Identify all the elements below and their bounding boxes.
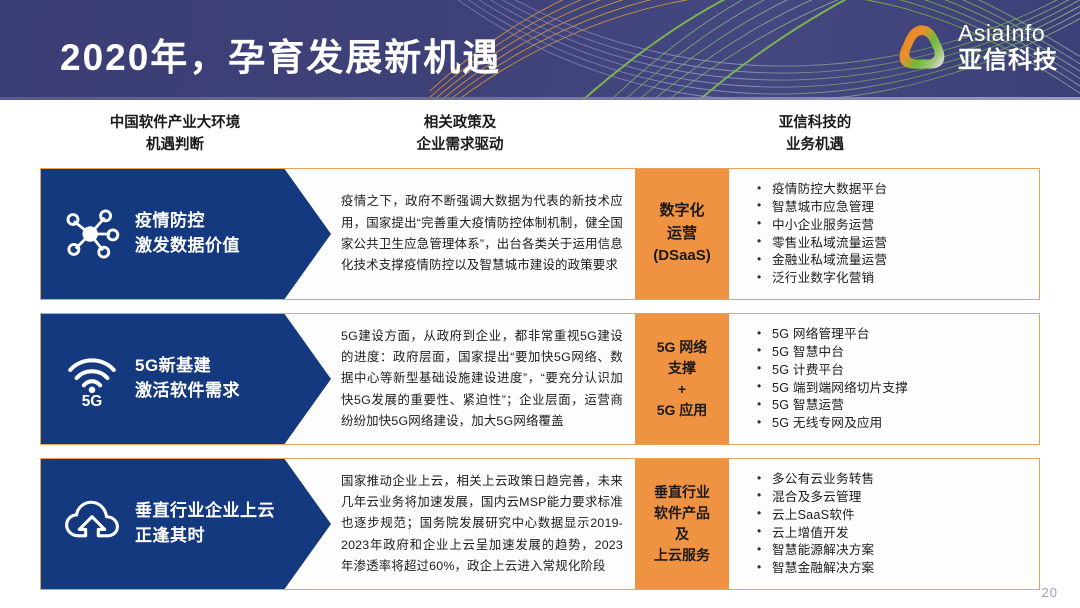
row-1-tag-line-2: 运营 [667, 223, 697, 246]
row-3-arrow-panel: 垂直行业企业上云 正逢其时 [41, 459, 331, 589]
column-header-2-line1: 相关政策及 [340, 112, 580, 134]
list-item: 智慧金融解决方案 [755, 560, 1039, 578]
row-1-title: 疫情防控 激发数据价值 [135, 209, 240, 258]
column-header-3-line1: 亚信科技的 [690, 112, 940, 134]
row-2-description: 5G建设方面，从政府到企业，都非常重视5G建设的进度：政府层面，国家提出“要加快… [341, 326, 623, 433]
row-1-arrow-panel: 疫情防控 激发数据价值 [41, 169, 331, 299]
cloud-upload-icon [63, 495, 121, 553]
column-header-1: 中国软件产业大环境 机遇判断 [60, 112, 290, 157]
row-2-title: 5G新基建 激活软件需求 [135, 354, 240, 403]
column-header-1-line2: 机遇判断 [60, 134, 290, 156]
row-1-tag-line-1: 数字化 [659, 200, 704, 223]
row-2-description-cell: 5G建设方面，从政府到企业，都非常重视5G建设的进度：政府层面，国家提出“要加快… [341, 314, 623, 444]
column-header-3-line2: 业务机遇 [690, 134, 940, 156]
header-divider [0, 97, 1080, 100]
logo-text-cn: 亚信科技 [958, 49, 1058, 73]
list-item: 泛行业数字化营销 [755, 270, 1039, 288]
list-item: 智慧城市应急管理 [755, 198, 1039, 216]
row-1-tag-box: 数字化 运营 (DSaaS) [635, 169, 729, 299]
row-3-tag-line-1: 垂直行业 [654, 482, 710, 503]
list-item: 5G 智慧中台 [755, 343, 1039, 361]
slide-header: 2020年，孕育发展新机遇 AsiaInfo 亚信科技 [0, 0, 1080, 100]
column-headers: 中国软件产业大环境 机遇判断 相关政策及 企业需求驱动 亚信科技的 业务机遇 [0, 112, 1080, 160]
row-1-tag-line-3: (DSaaS) [653, 245, 711, 268]
row-3-description: 国家推动企业上云，相关上云政策日趋完善，未来几年云业务将加速发展，国内云MSP能… [341, 471, 623, 578]
list-item: 5G 无线专网及应用 [755, 415, 1039, 433]
list-item: 5G 端到端网络切片支撑 [755, 379, 1039, 397]
row-1-title-line1: 疫情防控 [135, 211, 205, 230]
row-3-title: 垂直行业企业上云 正逢其时 [135, 499, 275, 548]
row-2-tag-line-2: 支撑 [668, 358, 696, 379]
list-item: 金融业私域流量运营 [755, 252, 1039, 270]
row-1-description: 疫情之下，政府不断强调大数据为代表的新技术应用，国家提出“完善重大疫情防控体制机… [341, 191, 623, 276]
row-3-description-cell: 国家推动企业上云，相关上云政策日趋完善，未来几年云业务将加速发展，国内云MSP能… [341, 459, 623, 589]
row-1-bullet-list: 疫情防控大数据平台 智慧城市应急管理 中小企业服务运营 零售业私域流量运营 金融… [741, 169, 1039, 299]
row-3-tag-line-3: 及 [675, 524, 689, 545]
row-3-title-line2: 正逢其时 [135, 524, 275, 549]
column-header-1-line1: 中国软件产业大环境 [60, 112, 290, 134]
row-3-tag-line-4: 上云服务 [654, 545, 710, 566]
opportunity-row: 疫情防控 激发数据价值 疫情之下，政府不断强调大数据为代表的新技术应用，国家提出… [40, 168, 1040, 300]
list-item: 5G 网络管理平台 [755, 326, 1039, 344]
svg-text:5G: 5G [82, 393, 103, 408]
row-3-tag-line-2: 软件产品 [654, 503, 710, 524]
list-item: 5G 智慧运营 [755, 397, 1039, 415]
list-item: 云上SaaS软件 [755, 506, 1039, 524]
page-title: 2020年，孕育发展新机遇 [60, 27, 501, 81]
row-2-tag-box: 5G 网络 支撑 + 5G 应用 [635, 314, 729, 444]
row-3-bullet-list: 多公有云业务转售 混合及多云管理 云上SaaS软件 云上增值开发 智慧能源解决方… [741, 459, 1039, 589]
row-2-title-line2: 激活软件需求 [135, 379, 240, 404]
column-header-2-line2: 企业需求驱动 [340, 134, 580, 156]
row-2-tag-line-1: 5G 网络 [657, 337, 708, 358]
list-item: 中小企业服务运营 [755, 216, 1039, 234]
list-item: 疫情防控大数据平台 [755, 181, 1039, 199]
list-item: 多公有云业务转售 [755, 471, 1039, 489]
row-2-bullet-list: 5G 网络管理平台 5G 智慧中台 5G 计费平台 5G 端到端网络切片支撑 5… [741, 314, 1039, 444]
row-2-arrow-panel: 5G 5G新基建 激活软件需求 [41, 314, 331, 444]
row-2-tag-line-3: + [678, 379, 686, 400]
row-1-title-line2: 激发数据价值 [135, 234, 240, 259]
list-item: 云上增值开发 [755, 524, 1039, 542]
row-1-description-cell: 疫情之下，政府不断强调大数据为代表的新技术应用，国家提出“完善重大疫情防控体制机… [341, 169, 623, 299]
asiainfo-ring-icon [895, 20, 949, 74]
row-2-tag-line-4: 5G 应用 [657, 400, 708, 421]
logo-text-en: AsiaInfo [958, 22, 1058, 45]
list-item: 混合及多云管理 [755, 488, 1039, 506]
opportunity-row: 垂直行业企业上云 正逢其时 国家推动企业上云，相关上云政策日趋完善，未来几年云业… [40, 458, 1040, 590]
row-2-title-line1: 5G新基建 [135, 356, 211, 375]
network-nodes-icon [63, 205, 121, 263]
list-item: 5G 计费平台 [755, 361, 1039, 379]
row-3-tag-box: 垂直行业 软件产品 及 上云服务 [635, 459, 729, 589]
opportunity-row: 5G 5G新基建 激活软件需求 5G建设方面，从政府到企业，都非常重视5G建设的… [40, 313, 1040, 445]
list-item: 零售业私域流量运营 [755, 234, 1039, 252]
page-number: 20 [1042, 585, 1058, 600]
list-item: 智慧能源解决方案 [755, 542, 1039, 560]
row-3-title-line1: 垂直行业企业上云 [135, 501, 275, 520]
asiainfo-logo: AsiaInfo 亚信科技 [895, 20, 1058, 74]
wifi-5g-icon: 5G [63, 350, 121, 408]
column-header-2: 相关政策及 企业需求驱动 [340, 112, 580, 157]
column-header-3: 亚信科技的 业务机遇 [690, 112, 940, 157]
